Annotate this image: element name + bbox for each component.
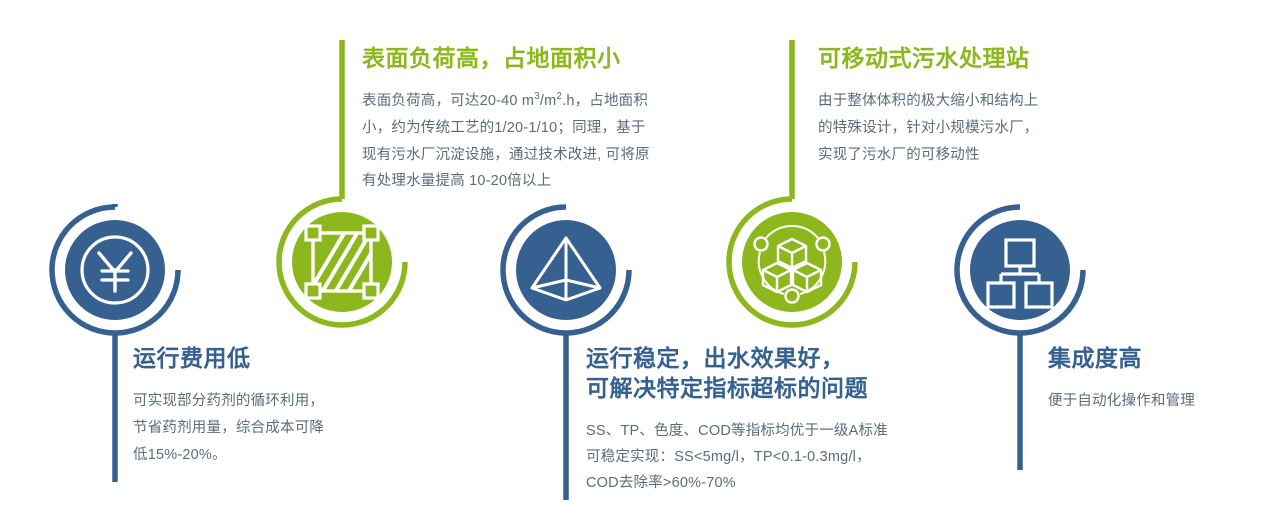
block-body-surface-load: 表面负荷高，可达20-40 m3/m2.h，占地面积 小，约为传统工艺的1/20…: [362, 88, 707, 195]
body-line: 表面负荷高，可达20-40 m3/m2.h，占地面积: [362, 93, 648, 109]
block-title-stable-operation: 运行稳定，出水效果好， 可解决特定指标超标的问题: [586, 344, 986, 404]
block-surface-load: 表面负荷高，占地面积小 表面负荷高，可达20-40 m3/m2.h，占地面积 小…: [362, 44, 707, 195]
title-line: 运行稳定，出水效果好，: [586, 345, 845, 371]
body-line: 可实现部分药剂的循环利用，: [133, 393, 324, 409]
body-line: 的特殊设计，针对小规模污水厂，: [818, 120, 1039, 136]
block-mobile-station: 可移动式污水处理站 由于整体体积的极大缩小和结构上 的特殊设计，针对小规模污水厂…: [818, 44, 1118, 168]
pyramid-icon: [516, 220, 616, 320]
body-line: 可稳定实现：SS<5mg/l，TP<0.1-0.3mg/l，: [586, 449, 871, 465]
block-body-low-cost: 可实现部分药剂的循环利用， 节省药剂用量，综合成本可降 低15%-20%。: [133, 388, 433, 468]
yen-coin-icon: [65, 220, 165, 320]
block-body-integration: 便于自动化操作和管理: [1048, 388, 1278, 415]
body-line: COD去除率>60%-70%: [586, 475, 736, 491]
block-title-low-cost: 运行费用低: [133, 344, 433, 374]
block-title-mobile-station: 可移动式污水处理站: [818, 44, 1118, 74]
block-body-stable-operation: SS、TP、色度、COD等指标均优于一级A标准 可稳定实现：SS<5mg/l，T…: [586, 418, 986, 496]
title-line: 可解决特定指标超标的问题: [586, 375, 868, 401]
infographic-canvas: 表面负荷高，占地面积小 表面负荷高，可达20-40 m3/m2.h，占地面积 小…: [0, 0, 1279, 532]
body-line: 由于整体体积的极大缩小和结构上: [818, 93, 1039, 109]
body-line: 便于自动化操作和管理: [1048, 393, 1195, 409]
crop-area-icon: [292, 212, 392, 312]
block-low-cost: 运行费用低 可实现部分药剂的循环利用， 节省药剂用量，综合成本可降 低15%-2…: [133, 344, 433, 468]
block-stable-operation: 运行稳定，出水效果好， 可解决特定指标超标的问题 SS、TP、色度、COD等指标…: [586, 344, 986, 496]
body-line: 实现了污水厂的可移动性: [818, 147, 980, 163]
block-integration: 集成度高 便于自动化操作和管理: [1048, 344, 1278, 415]
body-line: 有处理水量提高 10-20倍以上: [362, 173, 551, 189]
body-line: 低15%-20%。: [133, 447, 227, 463]
block-title-integration: 集成度高: [1048, 344, 1278, 374]
cube-network-icon: [742, 212, 842, 312]
body-line: 小，约为传统工艺的1/20-1/10；同理，基于: [362, 120, 646, 136]
body-line: 节省药剂用量，综合成本可降: [133, 420, 324, 436]
body-line: 现有污水厂沉淀设施，通过技术改进, 可将原: [362, 147, 650, 163]
block-body-mobile-station: 由于整体体积的极大缩小和结构上 的特殊设计，针对小规模污水厂， 实现了污水厂的可…: [818, 88, 1118, 168]
body-line: SS、TP、色度、COD等指标均优于一级A标准: [586, 423, 888, 439]
hierarchy-icon: [970, 220, 1070, 320]
block-title-surface-load: 表面负荷高，占地面积小: [362, 44, 707, 74]
